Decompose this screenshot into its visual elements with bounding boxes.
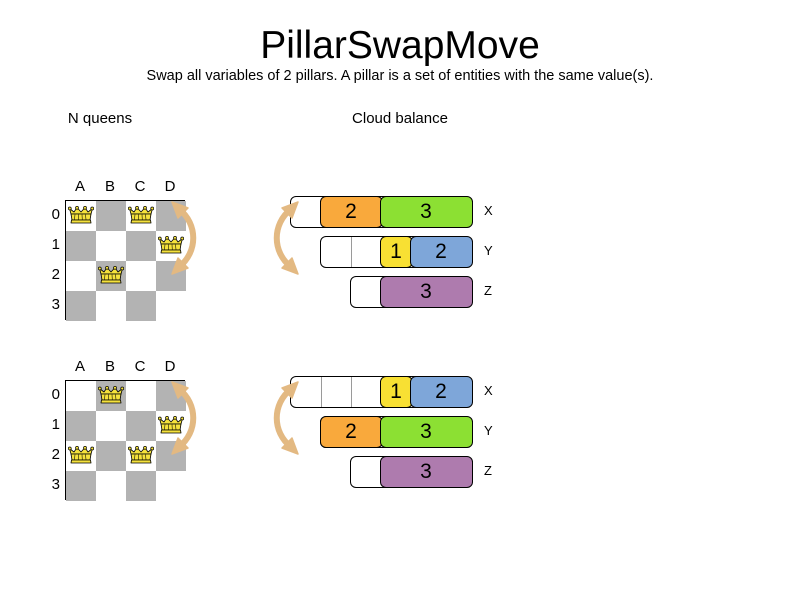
cloud-bar-row-y-after: 23Y <box>296 416 510 448</box>
rank-label-0: 0 <box>42 206 60 223</box>
file-label-d: D <box>155 178 185 195</box>
cloud-bar-row-x-after: 12X <box>296 376 510 408</box>
board-cell-a3[interactable] <box>66 471 96 501</box>
queen-icon <box>68 446 94 466</box>
cloud-bar-row-x-before: 23X <box>296 196 510 228</box>
board-cell-a2[interactable] <box>66 441 96 471</box>
file-label-c: C <box>125 358 155 375</box>
board-cell-c2[interactable] <box>126 261 156 291</box>
board-cell-b3[interactable] <box>96 471 126 501</box>
rank-label-1: 1 <box>42 236 60 253</box>
cloud-segment-z-0[interactable]: 3 <box>380 276 473 308</box>
board-cell-b1[interactable] <box>96 231 126 261</box>
swap-arrow-icon-cloud-after <box>266 376 302 465</box>
board-grid-before <box>65 200 185 320</box>
cloud-bar-label-z: Z <box>484 283 492 298</box>
cloud-bar-frame-x[interactable]: 23 <box>290 196 470 228</box>
board-cell-a0[interactable] <box>66 381 96 411</box>
board-cell-c3[interactable] <box>126 471 156 501</box>
page-subtitle: Swap all variables of 2 pillars. A pilla… <box>0 68 800 84</box>
file-label-c: C <box>125 178 155 195</box>
board-cell-d3[interactable] <box>156 471 186 501</box>
board-cell-b0[interactable] <box>96 381 126 411</box>
cloud-bar-label-x: X <box>484 383 493 398</box>
cloud-segment-y-1[interactable]: 3 <box>380 416 473 448</box>
cloud-bar-label-z: Z <box>484 463 492 478</box>
cloud-segment-x-1[interactable]: 3 <box>380 196 473 228</box>
cloud-bar-frame-z[interactable]: 3 <box>350 456 470 488</box>
board-cell-a3[interactable] <box>66 291 96 321</box>
board-cell-b2[interactable] <box>96 441 126 471</box>
cloud-empty-divider <box>351 377 352 407</box>
cloud-empty-divider <box>351 237 352 267</box>
queen-icon <box>128 206 154 226</box>
cloud-segment-y-0[interactable]: 2 <box>320 416 383 448</box>
cloud-bar-row-z-after: 3Z <box>296 456 510 488</box>
board-cell-b2[interactable] <box>96 261 126 291</box>
cloud-bar-label-y: Y <box>484 423 493 438</box>
file-label-a: A <box>65 178 95 195</box>
board-cell-b1[interactable] <box>96 411 126 441</box>
queen-icon <box>98 386 124 406</box>
page-title: PillarSwapMove <box>0 26 800 65</box>
board-grid-after <box>65 380 185 500</box>
board-cell-d3[interactable] <box>156 291 186 321</box>
rank-label-2: 2 <box>42 266 60 283</box>
cloud-segment-y-1[interactable]: 2 <box>410 236 473 268</box>
swap-arrow-icon-cloud-before <box>266 196 302 285</box>
file-labels-before: ABCD <box>65 178 185 198</box>
board-cell-a0[interactable] <box>66 201 96 231</box>
board-cell-a2[interactable] <box>66 261 96 291</box>
board-cell-c3[interactable] <box>126 291 156 321</box>
section-header-cloud: Cloud balance <box>310 110 490 127</box>
swap-arrow-icon-board-before <box>168 196 204 285</box>
board-cell-c1[interactable] <box>126 411 156 441</box>
board-cell-c1[interactable] <box>126 231 156 261</box>
cloud-bar-frame-x[interactable]: 12 <box>290 376 470 408</box>
cloud-bar-frame-y[interactable]: 23 <box>320 416 470 448</box>
rank-label-0: 0 <box>42 386 60 403</box>
queen-icon <box>128 446 154 466</box>
cloud-bar-row-z-before: 3Z <box>296 276 510 308</box>
cloud-segment-y-0[interactable]: 1 <box>380 236 413 268</box>
file-label-b: B <box>95 178 125 195</box>
board-cell-b0[interactable] <box>96 201 126 231</box>
cloud-segment-x-0[interactable]: 1 <box>380 376 413 408</box>
board-cell-c0[interactable] <box>126 201 156 231</box>
rank-label-2: 2 <box>42 446 60 463</box>
board-cell-a1[interactable] <box>66 411 96 441</box>
board-cell-b3[interactable] <box>96 291 126 321</box>
queen-icon <box>68 206 94 226</box>
rank-label-3: 3 <box>42 476 60 493</box>
queen-icon <box>98 266 124 286</box>
rank-label-3: 3 <box>42 296 60 313</box>
cloud-bar-row-y-before: 12Y <box>296 236 510 268</box>
file-label-b: B <box>95 358 125 375</box>
cloud-bar-frame-y[interactable]: 12 <box>320 236 470 268</box>
file-labels-after: ABCD <box>65 358 185 378</box>
board-cell-c0[interactable] <box>126 381 156 411</box>
cloud-segment-x-0[interactable]: 2 <box>320 196 383 228</box>
board-cell-a1[interactable] <box>66 231 96 261</box>
cloud-segment-z-0[interactable]: 3 <box>380 456 473 488</box>
file-label-d: D <box>155 358 185 375</box>
section-header-nqueens: N queens <box>20 110 180 127</box>
cloud-segment-x-1[interactable]: 2 <box>410 376 473 408</box>
swap-arrow-icon-board-after <box>168 376 204 465</box>
board-cell-c2[interactable] <box>126 441 156 471</box>
file-label-a: A <box>65 358 95 375</box>
cloud-empty-divider <box>321 377 322 407</box>
diagram-root: PillarSwapMove Swap all variables of 2 p… <box>0 0 800 600</box>
cloud-bar-frame-z[interactable]: 3 <box>350 276 470 308</box>
cloud-bar-label-x: X <box>484 203 493 218</box>
rank-label-1: 1 <box>42 416 60 433</box>
cloud-bar-label-y: Y <box>484 243 493 258</box>
